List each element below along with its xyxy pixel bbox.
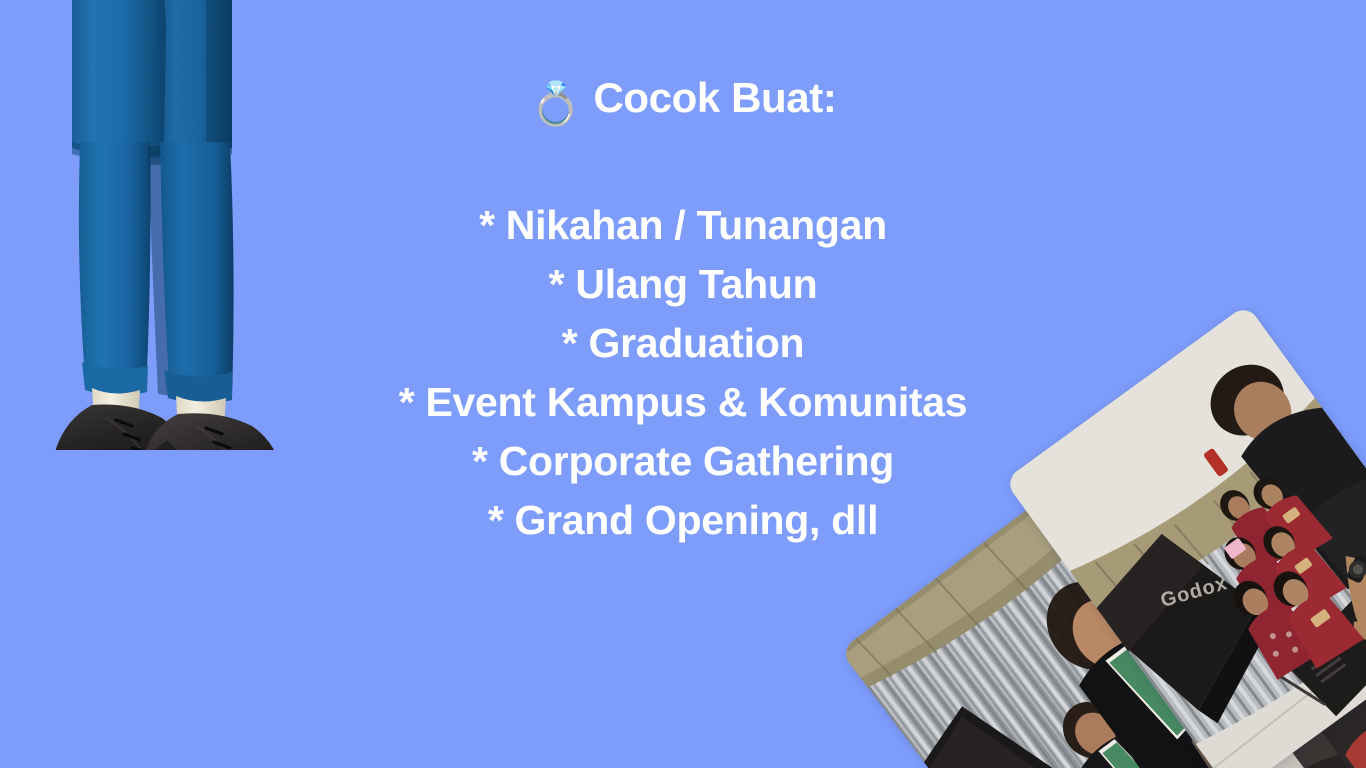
character-suit-jacket [72,0,232,165]
page-title-text: Cocok Buat: [593,74,836,121]
ring-icon: 💍 [530,80,582,127]
slide-canvas: 💍Cocok Buat: * Nikahan / Tunangan * Ulan… [0,0,1366,768]
businessman-3d-character [0,0,300,450]
character-shoes [51,405,284,450]
character-trousers [79,142,234,404]
